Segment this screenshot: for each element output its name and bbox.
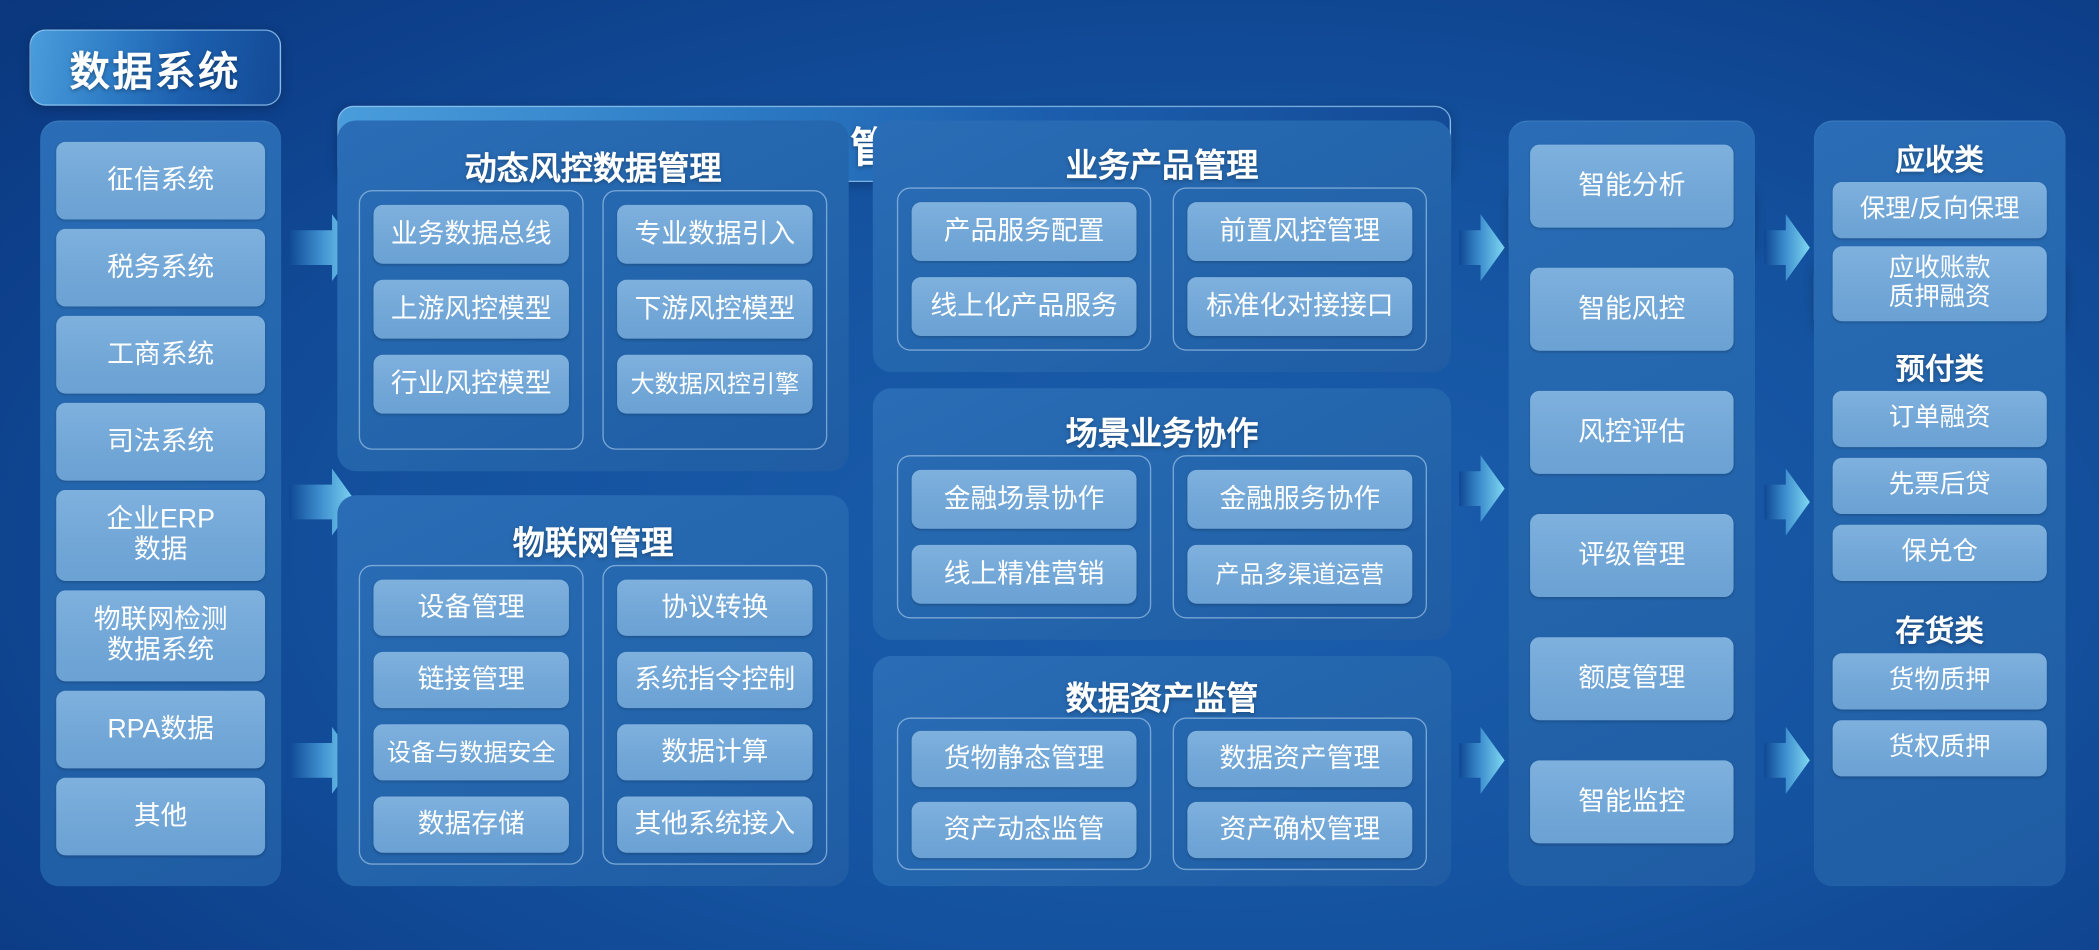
chip-app-capability[interactable]: 智能分析 <box>1530 145 1733 228</box>
chip-feature[interactable]: 大数据风控引擎 <box>617 355 812 414</box>
chip-scenario[interactable]: 先票后贷 <box>1833 458 2047 514</box>
chip-feature[interactable]: 货物静态管理 <box>912 731 1137 787</box>
chip-feature[interactable]: 金融服务协作 <box>1187 470 1412 529</box>
right-arrow-icon <box>1459 455 1505 522</box>
chip-feature[interactable]: 下游风控模型 <box>617 280 812 339</box>
chip-data-system[interactable]: 物联网检测 数据系统 <box>56 590 265 681</box>
chip-app-capability[interactable]: 风控评估 <box>1530 391 1733 474</box>
panel-scenarios: 应收类 保理/反向保理 应收账款 质押融资 预付类 订单融资 先票后贷 保兑仓 … <box>1814 120 2066 886</box>
chip-data-system[interactable]: 税务系统 <box>56 229 265 307</box>
chip-feature[interactable]: 设备管理 <box>373 580 568 636</box>
column-header-data-systems: 数据系统 <box>29 29 281 105</box>
chip-data-system[interactable]: RPA数据 <box>56 691 265 769</box>
chip-data-system[interactable]: 司法系统 <box>56 403 265 481</box>
scenario-category-title: 存货类 <box>1814 608 2066 651</box>
section-title: 数据资产监管 <box>873 672 1451 719</box>
chip-feature[interactable]: 金融场景协作 <box>912 470 1137 529</box>
chip-feature[interactable]: 行业风控模型 <box>373 355 568 414</box>
panel-app-layer: 智能分析 智能风控 风控评估 评级管理 额度管理 智能监控 <box>1509 120 1755 886</box>
group-right: 数据资产管理 资产确权管理 <box>1173 718 1427 871</box>
chip-feature[interactable]: 设备与数据安全 <box>373 724 568 780</box>
chip-data-system[interactable]: 企业ERP 数据 <box>56 490 265 581</box>
chip-feature[interactable]: 产品多渠道运营 <box>1187 545 1412 604</box>
right-arrow-icon <box>1764 727 1810 794</box>
right-arrow-icon <box>1459 727 1505 794</box>
group-left: 业务数据总线 上游风控模型 行业风控模型 <box>359 190 584 450</box>
chip-feature[interactable]: 专业数据引入 <box>617 205 812 264</box>
section-iot-management: 物联网管理 设备管理 链接管理 设备与数据安全 数据存储 协议转换 系统指令控制… <box>337 495 848 886</box>
group-right: 专业数据引入 下游风控模型 大数据风控引擎 <box>602 190 827 450</box>
section-dynamic-risk-data: 动态风控数据管理 业务数据总线 上游风控模型 行业风控模型 专业数据引入 下游风… <box>337 120 848 471</box>
chip-feature[interactable]: 数据计算 <box>617 724 812 780</box>
chip-feature[interactable]: 数据存储 <box>373 796 568 852</box>
chip-feature[interactable]: 链接管理 <box>373 652 568 708</box>
chip-feature[interactable]: 线上精准营销 <box>912 545 1137 604</box>
chip-feature[interactable]: 产品服务配置 <box>912 202 1137 261</box>
section-title: 业务产品管理 <box>873 139 1451 186</box>
chip-feature[interactable]: 协议转换 <box>617 580 812 636</box>
scenario-category-title: 预付类 <box>1814 345 2066 388</box>
chip-app-capability[interactable]: 额度管理 <box>1530 637 1733 720</box>
scenario-category-title: 应收类 <box>1814 137 2066 180</box>
section-data-asset-supervision: 数据资产监管 货物静态管理 资产动态监管 数据资产管理 资产确权管理 <box>873 656 1451 886</box>
section-title: 物联网管理 <box>337 517 848 564</box>
chip-feature[interactable]: 前置风控管理 <box>1187 202 1412 261</box>
chip-app-capability[interactable]: 智能监控 <box>1530 760 1733 843</box>
chip-feature[interactable]: 资产确权管理 <box>1187 802 1412 858</box>
chip-feature[interactable]: 系统指令控制 <box>617 652 812 708</box>
group-right: 协议转换 系统指令控制 数据计算 其他系统接入 <box>602 565 827 865</box>
group-right: 前置风控管理 标准化对接接口 <box>1173 187 1427 350</box>
chip-scenario[interactable]: 保兑仓 <box>1833 525 2047 581</box>
chip-data-system[interactable]: 工商系统 <box>56 316 265 394</box>
chip-app-capability[interactable]: 评级管理 <box>1530 514 1733 597</box>
chip-scenario[interactable]: 应收账款 质押融资 <box>1833 246 2047 321</box>
group-right: 金融服务协作 产品多渠道运营 <box>1173 455 1427 618</box>
diagram-canvas: 数据系统 征信系统 税务系统 工商系统 司法系统 企业ERP 数据 物联网检测 … <box>0 0 2099 950</box>
chip-feature[interactable]: 数据资产管理 <box>1187 731 1412 787</box>
chip-scenario[interactable]: 货权质押 <box>1833 720 2047 776</box>
chip-data-system[interactable]: 其他 <box>56 778 265 856</box>
chip-scenario[interactable]: 订单融资 <box>1833 391 2047 447</box>
chip-app-capability[interactable]: 智能风控 <box>1530 268 1733 351</box>
section-title: 动态风控数据管理 <box>337 142 848 189</box>
group-left: 产品服务配置 线上化产品服务 <box>897 187 1151 350</box>
chip-scenario[interactable]: 货物质押 <box>1833 653 2047 709</box>
chip-feature[interactable]: 其他系统接入 <box>617 796 812 852</box>
group-left: 金融场景协作 线上精准营销 <box>897 455 1151 618</box>
chip-feature[interactable]: 上游风控模型 <box>373 280 568 339</box>
chip-feature[interactable]: 资产动态监管 <box>912 802 1137 858</box>
section-title: 场景业务协作 <box>873 407 1451 454</box>
chip-data-system[interactable]: 征信系统 <box>56 142 265 220</box>
section-business-product: 业务产品管理 产品服务配置 线上化产品服务 前置风控管理 标准化对接接口 <box>873 120 1451 372</box>
right-arrow-icon <box>1459 214 1505 281</box>
group-left: 设备管理 链接管理 设备与数据安全 数据存储 <box>359 565 584 865</box>
group-left: 货物静态管理 资产动态监管 <box>897 718 1151 871</box>
chip-feature[interactable]: 线上化产品服务 <box>912 277 1137 336</box>
chip-scenario[interactable]: 保理/反向保理 <box>1833 182 2047 238</box>
chip-feature[interactable]: 业务数据总线 <box>373 205 568 264</box>
right-arrow-icon <box>1764 214 1810 281</box>
section-scenario-collaboration: 场景业务协作 金融场景协作 线上精准营销 金融服务协作 产品多渠道运营 <box>873 388 1451 640</box>
panel-data-systems: 征信系统 税务系统 工商系统 司法系统 企业ERP 数据 物联网检测 数据系统 … <box>40 120 281 886</box>
right-arrow-icon <box>1764 469 1810 536</box>
chip-feature[interactable]: 标准化对接接口 <box>1187 277 1412 336</box>
